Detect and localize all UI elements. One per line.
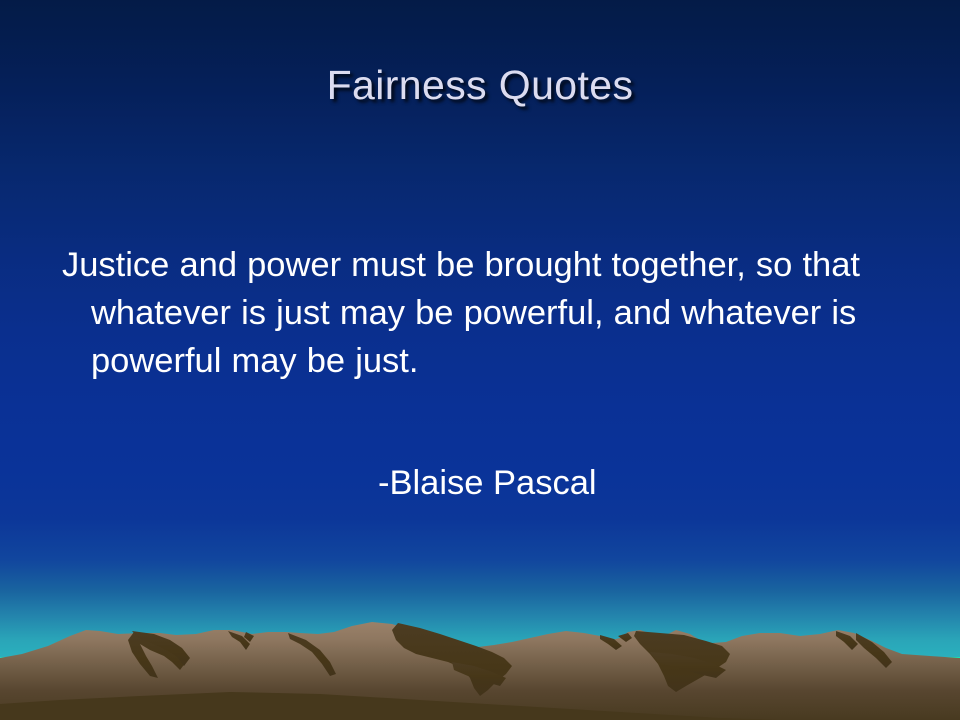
mountain-range-illustration xyxy=(0,600,960,720)
slide-title: Fairness Quotes xyxy=(0,61,960,109)
presentation-slide: Fairness Quotes Justice and power must b… xyxy=(0,0,960,720)
quote-body-block: Justice and power must be brought togeth… xyxy=(62,241,910,385)
quote-attribution: -Blaise Pascal xyxy=(378,459,960,507)
quote-text: Justice and power must be brought togeth… xyxy=(62,241,910,385)
